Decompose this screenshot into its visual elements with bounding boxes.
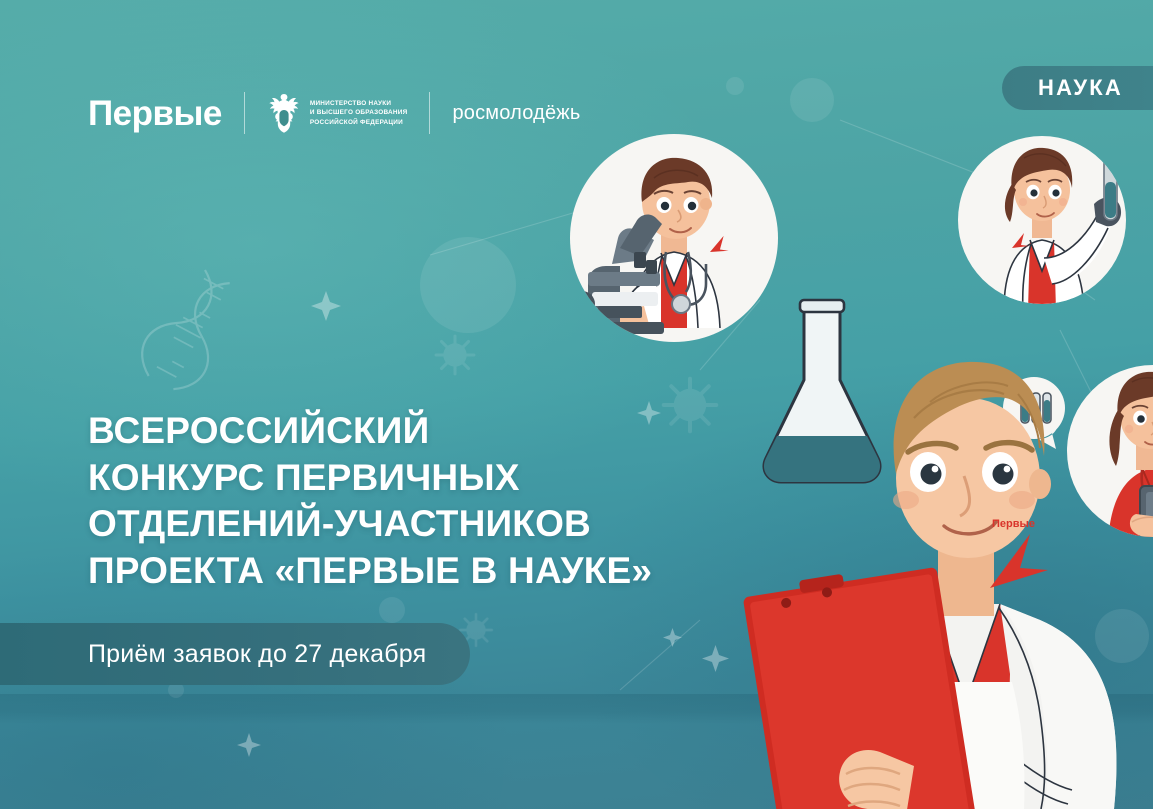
poster-canvas: Первые Первые МИНИСТЕРСТВО НАУКИ И ВЫСШЕ… — [0, 0, 1153, 809]
partner-logo-rosmolodezh[interactable]: росмолодёжь — [452, 102, 580, 125]
headline-line-4: ПРОЕКТА «ПЕРВЫЕ В НАУКЕ» — [88, 548, 768, 595]
svg-text:Первые: Первые — [992, 518, 1035, 530]
ministry-logo[interactable]: МИНИСТЕРСТВО НАУКИ И ВЫСШЕГО ОБРАЗОВАНИЯ… — [267, 91, 408, 135]
headline-line-3: ОТДЕЛЕНИЙ-УЧАСТНИКОВ — [88, 501, 768, 548]
logo-bar: Первые МИНИСТЕРСТВО НАУКИ И ВЫСШЕГО ОБРА… — [88, 88, 581, 138]
russian-eagle-icon — [267, 91, 301, 135]
headline-line-2: КОНКУРС ПЕРВИЧНЫХ — [88, 455, 768, 502]
category-badge[interactable]: НАУКА — [1002, 66, 1153, 110]
logo-divider-2 — [429, 92, 430, 134]
coat-emblem-icon: Первые — [990, 518, 1048, 588]
headline-line-1: ВСЕРОССИЙСКИЙ — [88, 408, 768, 455]
brand-logo-pervye[interactable]: Первые — [88, 96, 222, 131]
deadline-badge: Приём заявок до 27 декабря — [0, 623, 470, 685]
logo-divider-1 — [244, 92, 245, 134]
page-title: ВСЕРОССИЙСКИЙ КОНКУРС ПЕРВИЧНЫХ ОТДЕЛЕНИ… — [88, 408, 768, 594]
ministry-label: МИНИСТЕРСТВО НАУКИ И ВЫСШЕГО ОБРАЗОВАНИЯ… — [310, 99, 408, 127]
